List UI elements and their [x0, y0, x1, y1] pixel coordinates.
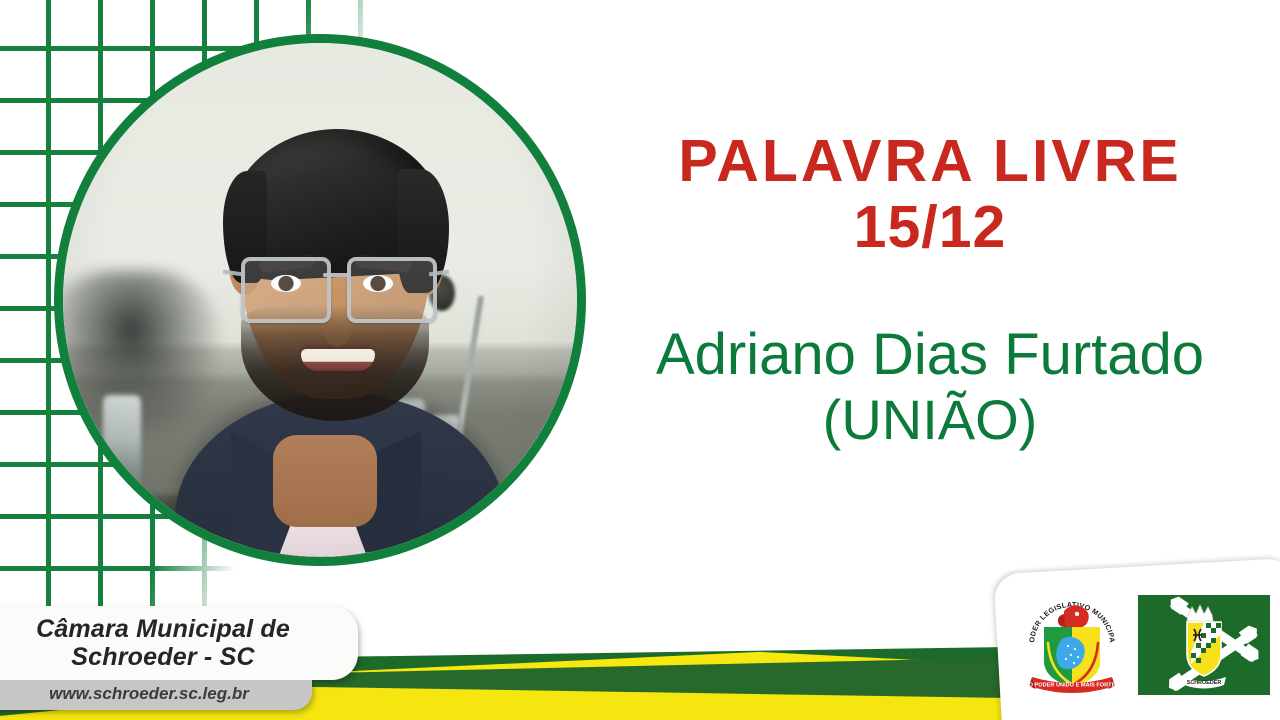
photo-neck — [273, 435, 377, 527]
institution-name-line-1: Câmara Municipal de — [4, 615, 322, 643]
emblem-group: PODER LEGISLATIVO MUNICIPAL O PODE — [1020, 586, 1270, 704]
speaker-photo: Retrato do vereador Adriano Dias Furtado — [63, 43, 577, 557]
photo-mouth — [301, 349, 375, 371]
speaker-party: (UNIÃO) — [590, 388, 1270, 452]
headline-line-2: 15/12 — [600, 194, 1260, 260]
headline-block: PALAVRA LIVRE 15/12 — [600, 128, 1260, 260]
svg-text:O PODER UNIDO É MAIS FORTE: O PODER UNIDO É MAIS FORTE — [1029, 681, 1116, 689]
eyeglass-lens-left — [241, 257, 331, 323]
eyeglass-lens-right — [347, 257, 437, 323]
institution-name: Câmara Municipal de Schroeder - SC — [0, 606, 358, 680]
eyeglass-bridge — [323, 273, 349, 277]
slide-canvas: Retrato do vereador Adriano Dias Furtado… — [0, 0, 1280, 720]
speaker-name-block: Adriano Dias Furtado (UNIÃO) — [590, 322, 1270, 452]
poder-legislativo-crest-icon: PODER LEGISLATIVO MUNICIPAL O PODE — [1020, 589, 1124, 701]
institution-banner: Câmara Municipal de Schroeder - SC www.s… — [0, 606, 358, 710]
photo-bottle — [103, 395, 141, 487]
portrait-circle-frame: Retrato do vereador Adriano Dias Furtado — [54, 34, 586, 566]
schroeder-flag-icon: SCHROEDER — [1138, 595, 1270, 695]
photo-eyeglasses — [239, 257, 435, 319]
speaker-name: Adriano Dias Furtado — [656, 322, 1204, 387]
flag-ribbon-text: SCHROEDER — [1187, 680, 1222, 686]
photo-chair — [63, 271, 221, 441]
institution-name-line-2: Schroeder - SC — [4, 643, 322, 671]
headline-line-1: PALAVRA LIVRE — [600, 128, 1260, 194]
institution-website[interactable]: www.schroeder.sc.leg.br — [0, 680, 312, 710]
